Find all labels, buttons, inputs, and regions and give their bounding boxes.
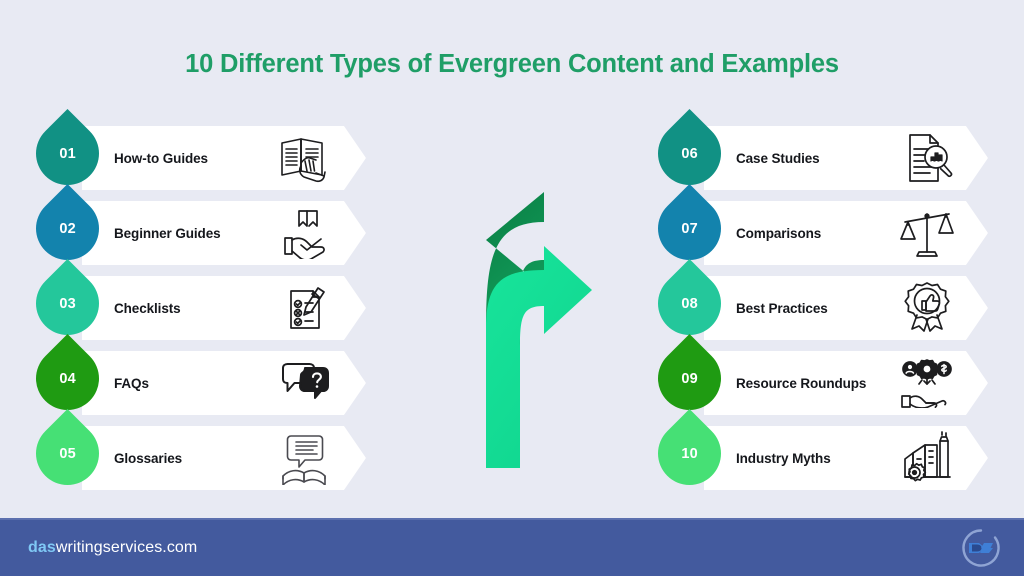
- footer-bar: daswritingservices.com: [0, 518, 1024, 576]
- list-item[interactable]: 09 Resource Roundups: [658, 347, 988, 419]
- item-number: 02: [59, 221, 76, 237]
- item-number: 09: [681, 371, 698, 387]
- brand-url: daswritingservices.com: [28, 520, 197, 576]
- list-item[interactable]: 05 Glossaries: [36, 422, 366, 494]
- factory-gear-icon: [896, 430, 958, 486]
- checklist-pencil-icon: [274, 280, 336, 336]
- item-label: Best Practices: [736, 272, 828, 344]
- item-label: Checklists: [114, 272, 181, 344]
- item-number: 03: [59, 296, 76, 312]
- thumbs-up-award-icon: [896, 280, 958, 336]
- list-item[interactable]: 03 Checklists: [36, 272, 366, 344]
- item-label: How-to Guides: [114, 122, 208, 194]
- item-label: Resource Roundups: [736, 347, 866, 419]
- hand-resources-icon: [896, 355, 958, 411]
- item-number: 05: [59, 446, 76, 462]
- item-number: 01: [59, 146, 76, 162]
- right-column: 06 Case Studies 07 Comparisons: [658, 122, 988, 497]
- open-book-hand-icon: [274, 130, 336, 186]
- list-item[interactable]: 02 Beginner Guides: [36, 197, 366, 269]
- list-item[interactable]: 01 How-to Guides: [36, 122, 366, 194]
- das-circle-logo: [960, 527, 1002, 569]
- item-number: 10: [681, 446, 698, 462]
- item-number: 04: [59, 371, 76, 387]
- question-speech-bubble-icon: [274, 355, 336, 411]
- balance-scale-icon: [896, 205, 958, 261]
- item-label: Industry Myths: [736, 422, 831, 494]
- item-number: 06: [681, 146, 698, 162]
- item-label: Case Studies: [736, 122, 820, 194]
- list-item[interactable]: 04 FAQs: [36, 347, 366, 419]
- speech-bubble-book-icon: [274, 430, 336, 486]
- document-magnifier-icon: [896, 130, 958, 186]
- forked-two-way-arrow: [368, 178, 656, 474]
- item-label: Beginner Guides: [114, 197, 221, 269]
- item-number: 07: [681, 221, 698, 237]
- item-label: FAQs: [114, 347, 149, 419]
- page-title: 10 Different Types of Evergreen Content …: [0, 50, 1024, 79]
- infographic-canvas: 10 Different Types of Evergreen Content …: [0, 0, 1024, 576]
- item-label: Comparisons: [736, 197, 821, 269]
- brand-prefix: das: [28, 539, 56, 557]
- list-item[interactable]: 06 Case Studies: [658, 122, 988, 194]
- item-number: 08: [681, 296, 698, 312]
- list-item[interactable]: 07 Comparisons: [658, 197, 988, 269]
- item-label: Glossaries: [114, 422, 182, 494]
- brand-suffix: writingservices.com: [56, 539, 198, 557]
- list-item[interactable]: 08 Best Practices: [658, 272, 988, 344]
- left-column: 01 How-to Guides 0: [36, 122, 366, 497]
- list-item[interactable]: 10 Industry Myths: [658, 422, 988, 494]
- book-in-hand-icon: [274, 205, 336, 261]
